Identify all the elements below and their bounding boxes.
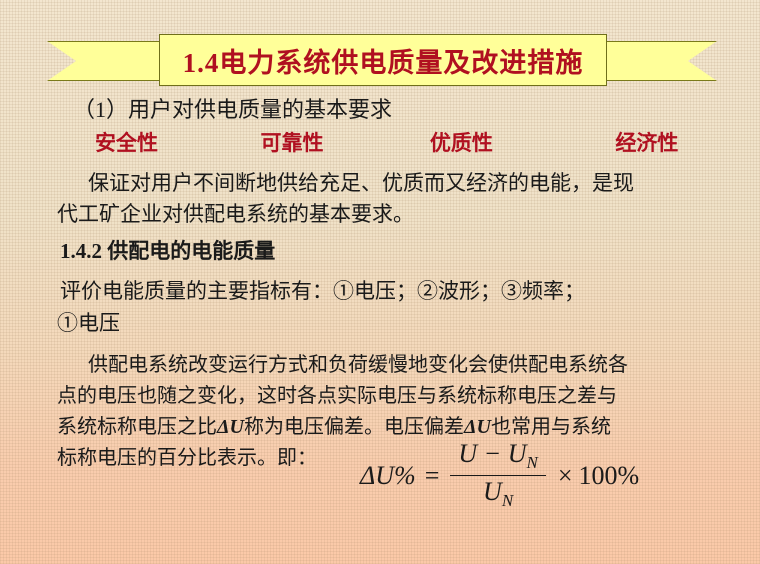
formula-numerator-u: U xyxy=(458,439,477,468)
banner-box: 1.4电力系统供电质量及改进措施 xyxy=(159,34,607,86)
indicators-line2: ①电压 xyxy=(57,307,120,337)
paragraph2-line2: 点的电压也随之变化，这时各点实际电压与系统标称电压之差与 xyxy=(57,379,617,408)
key-requirement-2: 可靠性 xyxy=(260,127,429,157)
formula-fraction: U − UN UN xyxy=(450,440,545,511)
formula-numerator: U − UN xyxy=(450,440,545,475)
key-requirement-4: 经济性 xyxy=(615,127,715,157)
subheading: （1）用户对供电质量的基本要求 xyxy=(73,92,392,124)
formula-times: × xyxy=(558,461,573,491)
key-requirement-1: 安全性 xyxy=(95,127,260,157)
paragraph2-line3-symbol-2: ΔU xyxy=(464,416,491,438)
formula-denominator-subscript: N xyxy=(502,492,513,511)
formula-denominator-u: U xyxy=(483,477,502,506)
formula-lhs: ΔU% xyxy=(360,461,416,491)
key-requirements-row: 安全性 可靠性 优质性 经济性 xyxy=(95,127,715,157)
paragraph2-line3-part-e: 也常用与系统 xyxy=(491,416,611,438)
paragraph2-line3-symbol-1: ΔU xyxy=(217,416,244,438)
paragraph1-line2: 代工矿企业对供配电系统的基本要求。 xyxy=(57,198,414,228)
slide-title: 1.4电力系统供电质量及改进措施 xyxy=(183,41,584,80)
paragraph2-line4: 标称电压的百分比表示。即： xyxy=(57,441,317,470)
paragraph2-line3-part-c: 称为电压偏差。电压偏差 xyxy=(244,416,464,438)
slide-canvas: 1.4电力系统供电质量及改进措施 （1）用户对供电质量的基本要求 安全性 可靠性… xyxy=(0,0,760,564)
paragraph2-line1: 供配电系统改变运行方式和负荷缓慢地变化会使供配电系统各 xyxy=(88,348,628,377)
paragraph1-line1: 保证对用户不间断地供给充足、优质而又经济的电能，是现 xyxy=(88,167,634,197)
paragraph2-line3: 系统标称电压之比ΔU称为电压偏差。电压偏差ΔU也常用与系统 xyxy=(57,410,611,439)
formula-numerator-un: U xyxy=(508,439,527,468)
formula-numerator-un-subscript: N xyxy=(526,453,537,472)
formula-equals: = xyxy=(425,461,440,491)
paragraph2-line3-part-a: 系统标称电压之比 xyxy=(57,416,217,438)
voltage-deviation-formula: ΔU% = U − UN UN × 100% xyxy=(360,440,639,511)
section-heading: 1.4.2 供配电的电能质量 xyxy=(60,235,275,265)
formula-numerator-minus: − xyxy=(484,439,502,468)
formula-denominator: UN xyxy=(475,476,521,511)
indicators-line1: 评价电能质量的主要指标有：①电压；②波形；③频率； xyxy=(60,275,585,305)
key-requirement-3: 优质性 xyxy=(430,127,615,157)
formula-percent: 100% xyxy=(579,461,640,491)
title-banner: 1.4电力系统供电质量及改进措施 xyxy=(47,34,717,86)
